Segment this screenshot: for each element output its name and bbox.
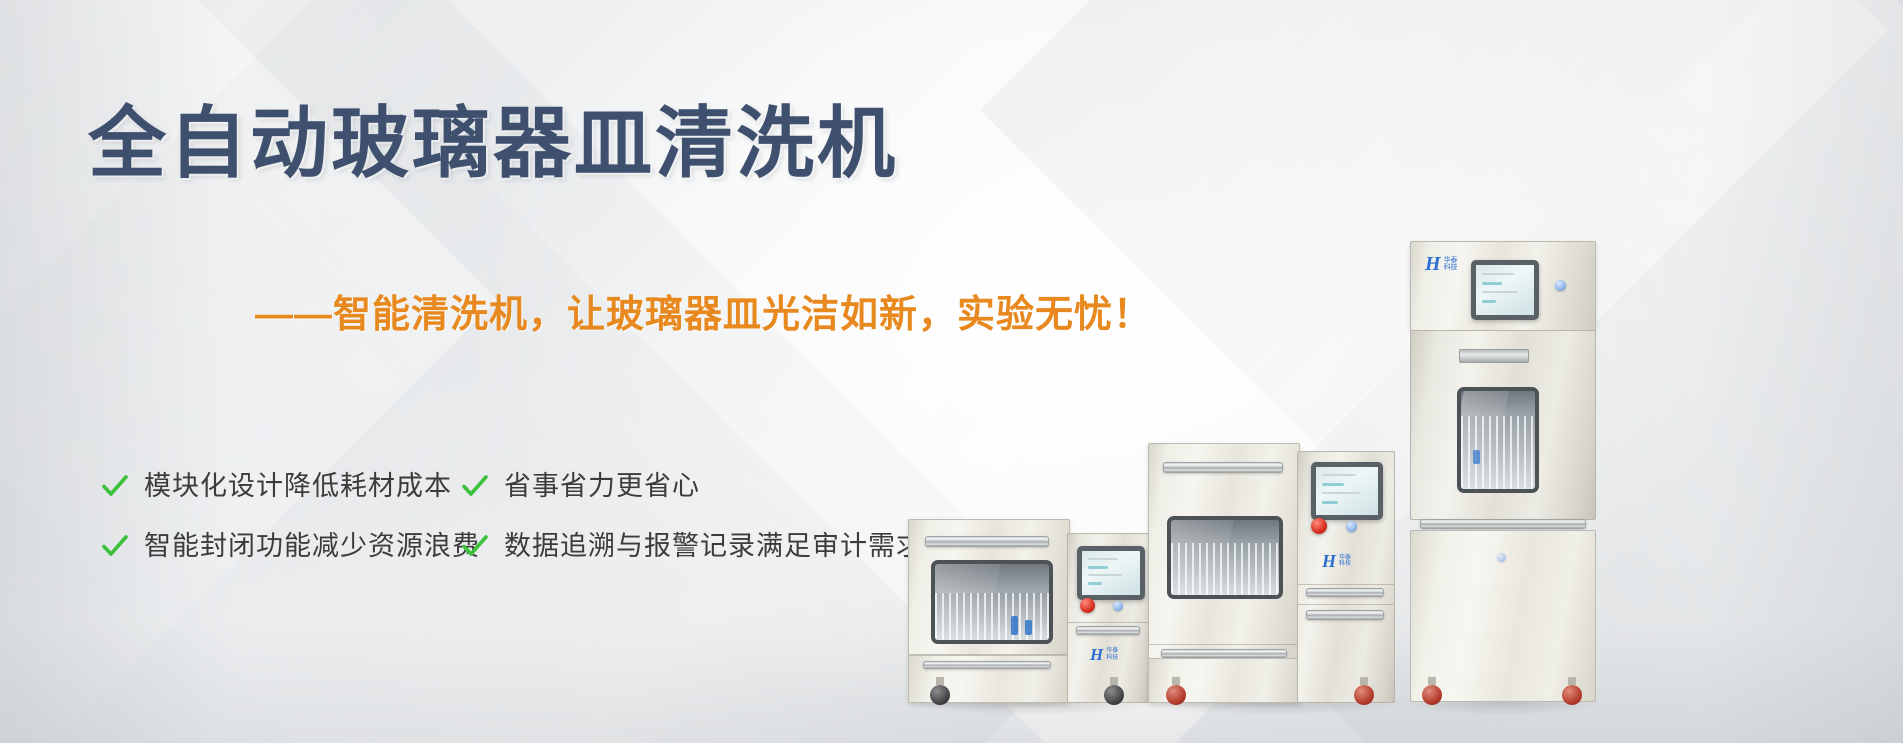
hmi-screen-line bbox=[1088, 566, 1108, 569]
chamber-viewing-window bbox=[931, 560, 1053, 644]
logo-line-2: 科技 bbox=[1444, 264, 1458, 271]
glassware-blue-item bbox=[1011, 616, 1018, 636]
logo-wordmark: 华泰 科技 bbox=[1106, 648, 1118, 661]
check-icon bbox=[100, 531, 130, 561]
washer-cabinet bbox=[1148, 443, 1300, 703]
power-indicator[interactable] bbox=[1346, 521, 1357, 532]
caster-wheel bbox=[1166, 677, 1186, 705]
brand-logo: H 华泰 科技 bbox=[1425, 254, 1458, 274]
chamber-viewing-window bbox=[1457, 387, 1539, 493]
logo-line-2: 科技 bbox=[1339, 561, 1351, 567]
feature-item-3: 智能封闭功能减少资源浪费 bbox=[100, 528, 460, 564]
logo-mark: H bbox=[1322, 552, 1336, 570]
logo-wordmark: 华泰 科技 bbox=[1339, 555, 1351, 568]
door-handle bbox=[1163, 462, 1283, 473]
door-handle bbox=[925, 536, 1049, 547]
power-indicator[interactable] bbox=[1113, 601, 1123, 611]
hmi-screen-line bbox=[1088, 582, 1102, 585]
logo-line-2: 科技 bbox=[1106, 655, 1118, 661]
lower-door-handle bbox=[1420, 519, 1586, 529]
hmi-screen-line bbox=[1482, 282, 1502, 285]
upper-control-section: H 华泰 科技 bbox=[1410, 241, 1596, 331]
tower-seam bbox=[1068, 622, 1148, 623]
logo-mark: H bbox=[1425, 254, 1441, 274]
logo-mark: H bbox=[1090, 646, 1103, 663]
check-icon bbox=[460, 531, 490, 561]
hmi-screen-line bbox=[1322, 501, 1338, 504]
power-indicator[interactable] bbox=[1555, 280, 1566, 291]
hmi-touchscreen[interactable] bbox=[1471, 260, 1539, 320]
check-icon bbox=[100, 471, 130, 501]
check-icon bbox=[460, 471, 490, 501]
tower-seam bbox=[1298, 604, 1394, 605]
tower-drawer-handle bbox=[1306, 610, 1384, 620]
emergency-stop-button[interactable] bbox=[1080, 598, 1095, 613]
hmi-screen-line bbox=[1088, 558, 1118, 560]
tower-seam bbox=[1298, 584, 1394, 585]
hmi-screen-line bbox=[1482, 300, 1496, 303]
product-image-undercounter-washer: H 华泰 科技 bbox=[908, 508, 1148, 703]
hmi-touchscreen[interactable] bbox=[1311, 462, 1383, 520]
product-hero-banner: 全自动玻璃器皿清洗机 ——智能清洗机，让玻璃器皿光洁如新，实验无忧！ 模块化设计… bbox=[0, 0, 1903, 743]
glassware-blue-item bbox=[1025, 620, 1032, 635]
product-photo-group: H 华泰 科技 bbox=[890, 0, 1903, 743]
cabinet-seam bbox=[1149, 644, 1299, 645]
hmi-screen-line bbox=[1482, 273, 1514, 275]
lower-panel-handle bbox=[1161, 649, 1287, 658]
feature-label: 模块化设计降低耗材成本 bbox=[144, 468, 452, 504]
product-image-freestanding-washer: H 华泰 科技 bbox=[1148, 441, 1398, 703]
feature-item-2: 省事省力更省心 bbox=[460, 468, 700, 504]
door-lock-indicator[interactable] bbox=[1497, 553, 1506, 562]
feature-row: 模块化设计降低耗材成本 省事省力更省心 bbox=[100, 468, 1000, 504]
hmi-screen-line bbox=[1482, 291, 1518, 293]
hmi-screen-line bbox=[1088, 574, 1122, 576]
caster-wheel bbox=[1354, 677, 1374, 705]
emergency-stop-button[interactable] bbox=[1311, 518, 1327, 534]
caster-wheel bbox=[1562, 677, 1582, 705]
feature-item-4: 数据追溯与报警记录满足审计需求 bbox=[460, 528, 924, 564]
wash-chamber-section bbox=[1410, 330, 1596, 520]
air-vent bbox=[1459, 349, 1529, 363]
control-tower: H 华泰 科技 bbox=[1297, 451, 1395, 703]
hmi-screen-line bbox=[1322, 492, 1360, 494]
brand-logo: H 华泰 科技 bbox=[1090, 646, 1118, 663]
chamber-viewing-window bbox=[1167, 516, 1283, 599]
feature-list: 模块化设计降低耗材成本 省事省力更省心 bbox=[100, 468, 1000, 588]
washer-cabinet bbox=[908, 519, 1070, 703]
logo-wordmark: 华泰 科技 bbox=[1444, 257, 1458, 272]
tower-drawer-handle bbox=[1076, 626, 1140, 635]
feature-label: 数据追溯与报警记录满足审计需求 bbox=[504, 528, 924, 564]
feature-item-1: 模块化设计降低耗材成本 bbox=[100, 468, 460, 504]
caster-wheel bbox=[930, 677, 950, 705]
banner-headline: 全自动玻璃器皿清洗机 bbox=[88, 95, 898, 191]
feature-label: 省事省力更省心 bbox=[504, 468, 700, 504]
hmi-touchscreen[interactable] bbox=[1077, 546, 1145, 600]
product-image-tall-column-washer: H 华泰 科技 bbox=[1410, 241, 1596, 703]
caster-wheel bbox=[1422, 677, 1442, 705]
brand-logo: H 华泰 科技 bbox=[1322, 552, 1351, 570]
hmi-screen-line bbox=[1322, 483, 1344, 486]
caster-wheel bbox=[1104, 677, 1124, 705]
hmi-screen-line bbox=[1322, 474, 1356, 476]
tower-drawer-handle bbox=[1306, 588, 1384, 597]
feature-row: 智能封闭功能减少资源浪费 数据追溯与报警记录满足审计需求 bbox=[100, 528, 1000, 564]
lower-panel-handle bbox=[923, 661, 1051, 669]
feature-label: 智能封闭功能减少资源浪费 bbox=[144, 528, 480, 564]
